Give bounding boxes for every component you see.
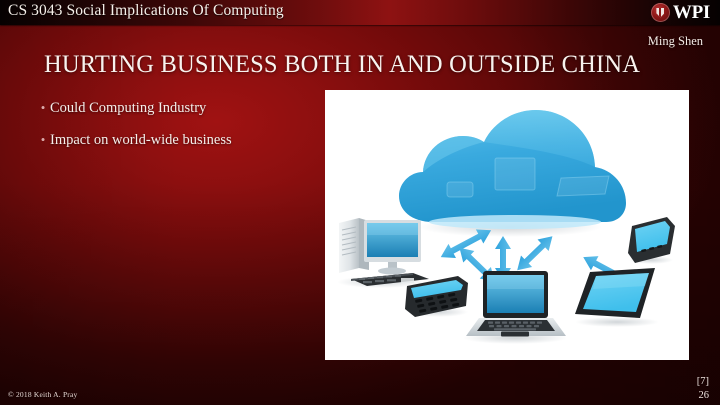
bullet-list: • Could Computing Industry • Impact on w… bbox=[36, 98, 311, 162]
presenter-name: Ming Shen bbox=[648, 34, 703, 49]
wpi-seal-icon bbox=[651, 3, 670, 22]
presentation-slide: CS 3043 Social Implications Of Computing… bbox=[0, 0, 720, 405]
wpi-logo: WPI bbox=[651, 1, 710, 24]
bullet-text: Impact on world-wide business bbox=[50, 130, 232, 150]
page-number: 26 bbox=[699, 390, 710, 401]
slide-image bbox=[325, 90, 689, 360]
bullet-marker-icon: • bbox=[36, 98, 50, 118]
course-title: CS 3043 Social Implications Of Computing bbox=[8, 2, 284, 20]
copyright-notice: © 2018 Keith A. Pray bbox=[8, 390, 78, 399]
cloud-computing-diagram bbox=[325, 90, 689, 360]
bullet-item: • Impact on world-wide business bbox=[36, 130, 311, 150]
slide-title: HURTING BUSINESS BOTH IN AND OUTSIDE CHI… bbox=[44, 52, 671, 78]
wpi-wordmark: WPI bbox=[673, 3, 710, 22]
bullet-marker-icon: • bbox=[36, 130, 50, 150]
shield-icon bbox=[656, 8, 664, 18]
citation-reference: [7] bbox=[697, 376, 709, 387]
bullet-text: Could Computing Industry bbox=[50, 98, 206, 118]
bullet-item: • Could Computing Industry bbox=[36, 98, 311, 118]
